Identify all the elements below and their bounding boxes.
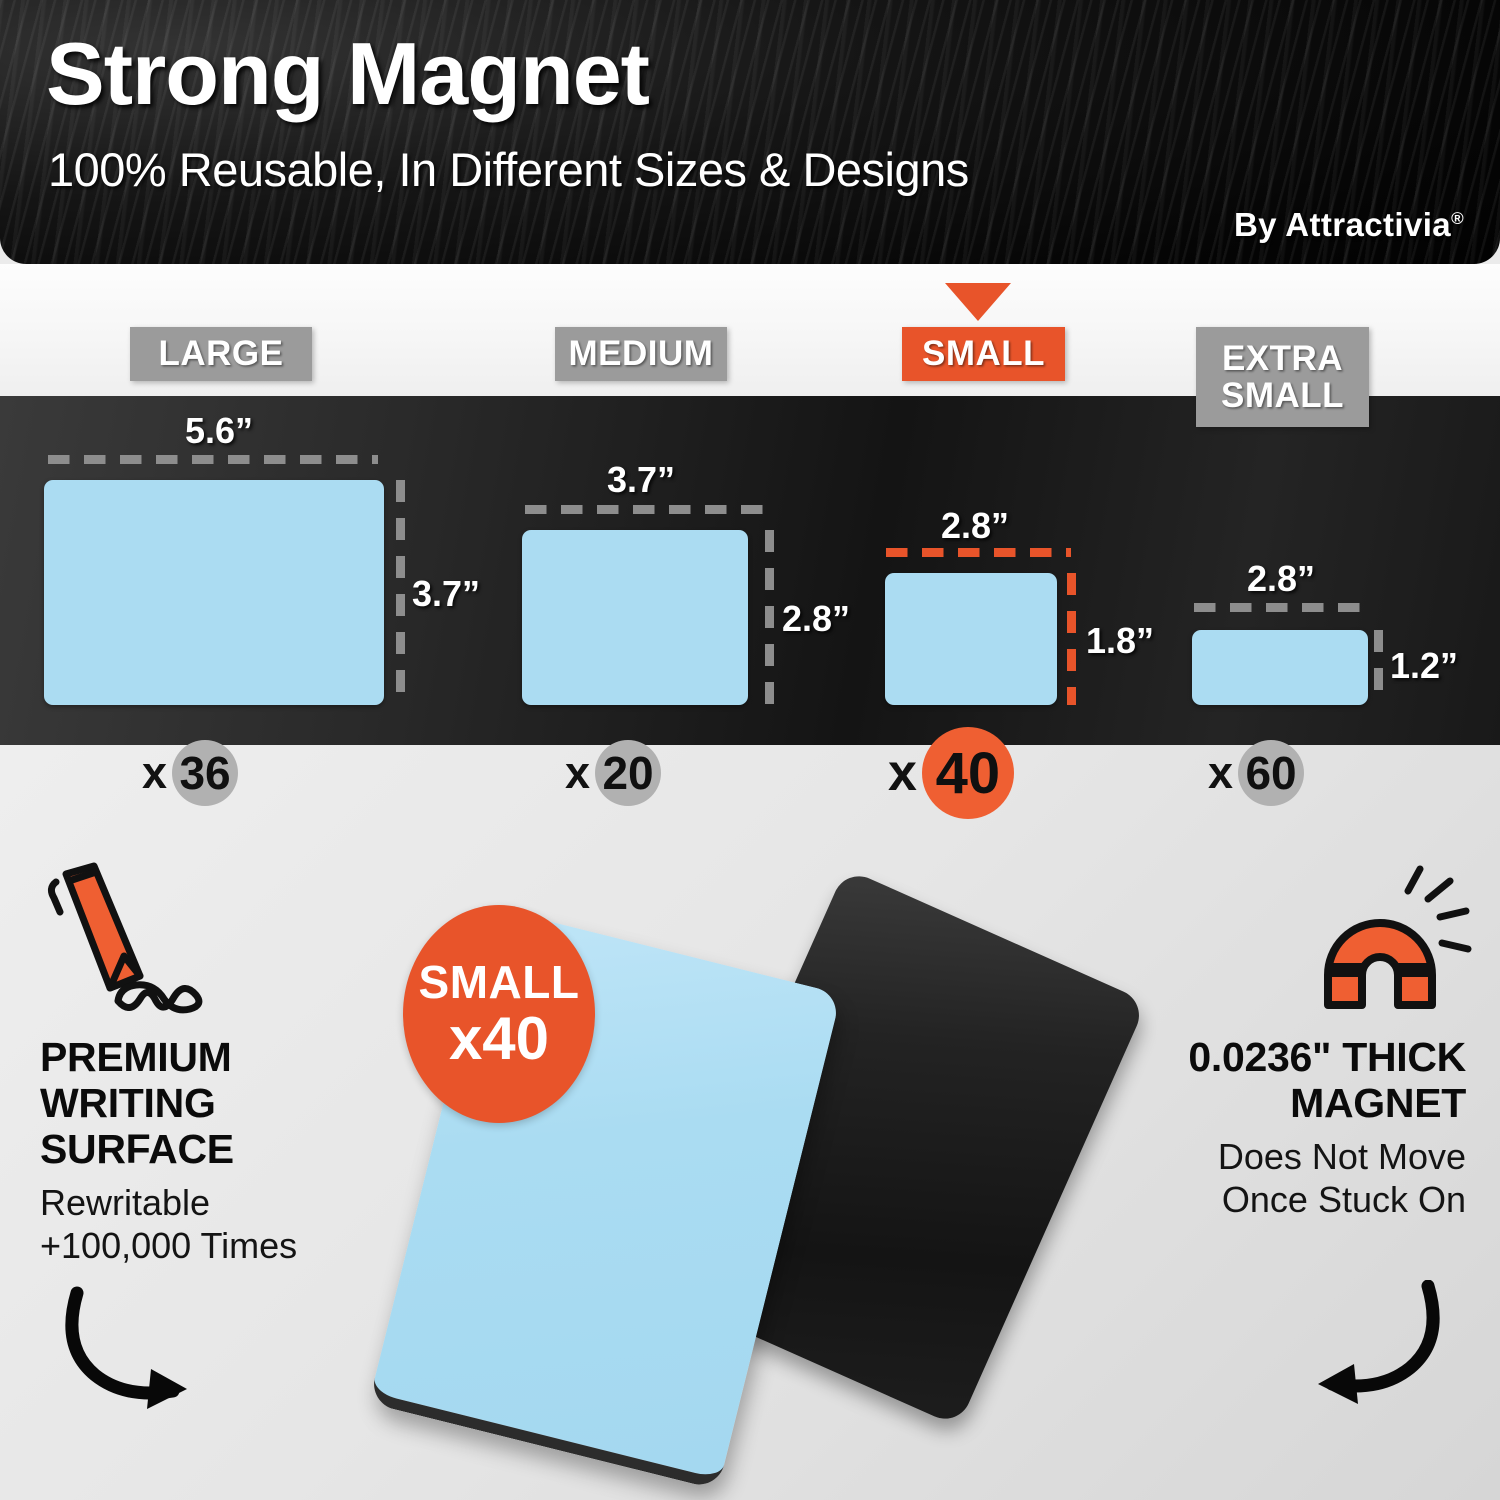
large-height-label: 3.7”	[412, 573, 480, 615]
registered-trademark-icon: ®	[1451, 209, 1464, 228]
quantity-badge-medium: x 20	[565, 740, 661, 806]
feature-right-subtitle: Does Not Move Once Stuck On	[1136, 1135, 1466, 1221]
large-card-swatch	[44, 480, 384, 705]
feature-right-sub-line1: Does Not Move	[1136, 1135, 1466, 1178]
tab-extra-small-label-line2: SMALL	[1221, 377, 1344, 414]
small-height-dash	[1067, 573, 1076, 705]
product-badge-quantity-label: x40	[449, 1009, 549, 1069]
medium-height-dash	[765, 530, 774, 705]
quantity-multiplier-medium: x	[565, 747, 590, 799]
quantity-badge-small: x 40	[888, 727, 1014, 819]
medium-width-dash	[525, 505, 770, 514]
product-photo-badge: SMALL x40	[403, 905, 595, 1123]
active-tab-pointer-icon	[941, 281, 1015, 321]
header-banner: Strong Magnet 100% Reusable, In Differen…	[0, 0, 1500, 264]
feature-thick-magnet: 0.0236" THICK MAGNET Does Not Move Once …	[1136, 1035, 1466, 1221]
marker-pen-writing-icon	[36, 860, 236, 1020]
horseshoe-magnet-icon	[1290, 855, 1480, 1025]
tab-extra-small[interactable]: EXTRA SMALL	[1196, 327, 1369, 427]
feature-premium-writing-surface: PREMIUM WRITING SURFACE Rewritable +100,…	[40, 1035, 340, 1267]
page-subtitle: 100% Reusable, In Different Sizes & Desi…	[48, 146, 969, 193]
feature-right-sub-line2: Once Stuck On	[1136, 1178, 1466, 1221]
tab-small[interactable]: SMALL	[902, 327, 1065, 381]
tab-large[interactable]: LARGE	[130, 327, 312, 381]
feature-left-title-line2: WRITING	[40, 1081, 340, 1127]
curved-arrow-right-icon	[55, 1285, 235, 1410]
quantity-multiplier-extra-small: x	[1208, 747, 1233, 799]
feature-left-subtitle: Rewritable +100,000 Times	[40, 1181, 340, 1267]
brand-label: By Attractivia®	[1234, 206, 1464, 244]
feature-right-title-line1: 0.0236" THICK	[1136, 1035, 1466, 1081]
extra-small-card-swatch	[1192, 630, 1368, 705]
quantity-multiplier-small: x	[888, 743, 917, 803]
feature-left-title: PREMIUM WRITING SURFACE	[40, 1035, 340, 1173]
curved-arrow-left-icon	[1270, 1280, 1450, 1410]
medium-height-label: 2.8”	[782, 598, 850, 640]
tab-medium[interactable]: MEDIUM	[555, 327, 727, 381]
large-height-dash	[396, 480, 405, 705]
small-width-label: 2.8”	[941, 505, 1009, 547]
product-photo: SMALL x40	[355, 895, 1145, 1455]
quantity-value-large: 36	[172, 740, 238, 806]
product-badge-size-label: SMALL	[419, 959, 580, 1005]
feature-left-sub-line2: +100,000 Times	[40, 1224, 340, 1267]
quantity-badge-large: x 36	[142, 740, 238, 806]
small-card-swatch	[885, 573, 1057, 705]
medium-card-swatch	[522, 530, 748, 705]
quantity-value-small: 40	[922, 727, 1014, 819]
feature-left-sub-line1: Rewritable	[40, 1181, 340, 1224]
extra-small-width-dash	[1194, 603, 1374, 612]
large-width-dash	[48, 455, 378, 464]
feature-left-title-line1: PREMIUM	[40, 1035, 340, 1081]
large-width-label: 5.6”	[185, 410, 253, 452]
tab-large-label: LARGE	[159, 335, 284, 372]
tab-medium-label: MEDIUM	[569, 335, 714, 372]
extra-small-width-label: 2.8”	[1247, 558, 1315, 600]
quantity-value-medium: 20	[595, 740, 661, 806]
product-infographic: Strong Magnet 100% Reusable, In Differen…	[0, 0, 1500, 1500]
page-title: Strong Magnet	[46, 30, 649, 118]
feature-right-title-line2: MAGNET	[1136, 1081, 1466, 1127]
quantity-multiplier-large: x	[142, 747, 167, 799]
extra-small-height-dash	[1374, 630, 1383, 705]
quantity-value-extra-small: 60	[1238, 740, 1304, 806]
medium-width-label: 3.7”	[607, 459, 675, 501]
brand-name: By Attractivia	[1234, 206, 1451, 243]
tab-extra-small-label-line1: EXTRA	[1222, 340, 1343, 377]
small-width-dash	[886, 548, 1071, 557]
tab-small-label: SMALL	[922, 335, 1045, 372]
feature-right-title: 0.0236" THICK MAGNET	[1136, 1035, 1466, 1127]
feature-left-title-line3: SURFACE	[40, 1127, 340, 1173]
extra-small-height-label: 1.2”	[1390, 645, 1458, 687]
small-height-label: 1.8”	[1086, 620, 1154, 662]
quantity-badge-extra-small: x 60	[1208, 740, 1304, 806]
